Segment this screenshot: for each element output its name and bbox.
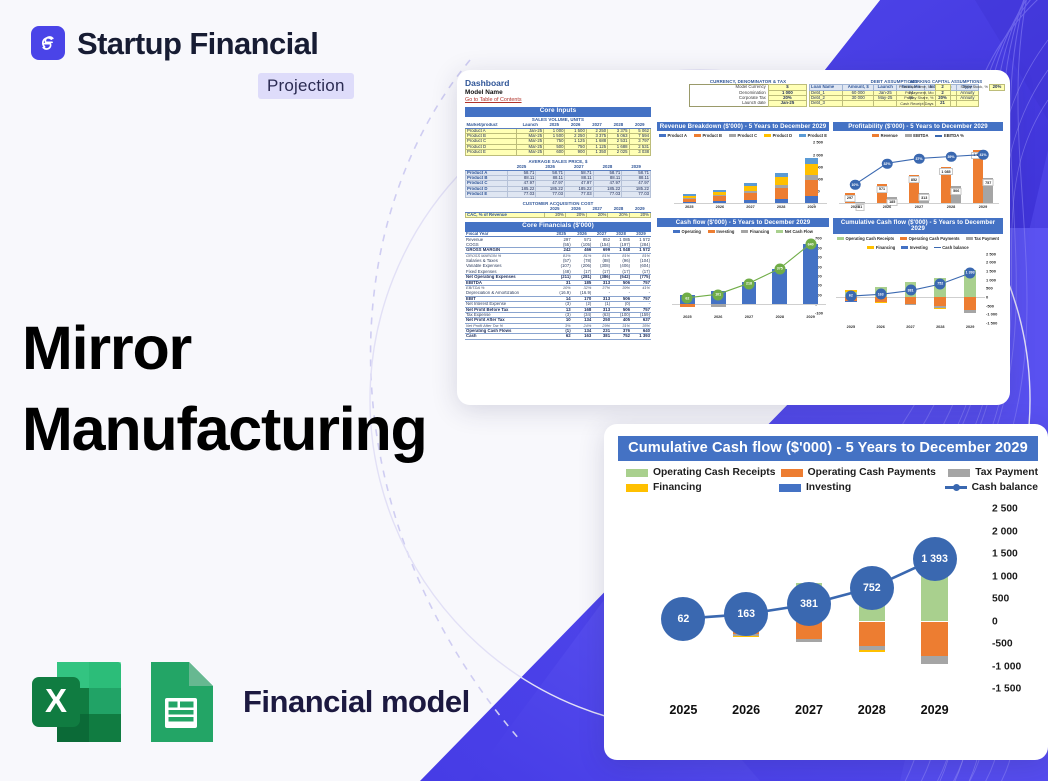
data-point-label: 62 — [845, 290, 856, 301]
table-cell: 1 350 — [586, 150, 607, 155]
legend-line-2: Financing Investing Cash balance — [626, 482, 1038, 493]
cash-flow-plot: 7006005004003002001000-10062101218375640… — [657, 236, 829, 322]
bar-segment — [805, 180, 818, 196]
legend-item: EBITDA — [905, 133, 929, 138]
legend-item-investing: Investing — [779, 482, 945, 493]
legend-swatch-icon — [900, 237, 907, 240]
legend-swatch-icon — [948, 469, 970, 477]
table-cell: Product E — [466, 150, 517, 155]
data-point-label: 32% — [882, 158, 893, 169]
table-cell: 21 — [935, 101, 950, 106]
brand-subtitle: Projection — [258, 73, 354, 99]
table-row: Launch dateJan-25 — [690, 101, 807, 106]
legend-item-cash-balance: Cash balance — [945, 482, 1038, 493]
bar-segment — [744, 183, 757, 186]
legend-item: Product E — [799, 133, 827, 138]
legend-swatch-icon — [966, 237, 973, 240]
format-label: Financial model — [243, 684, 470, 720]
legend-line-marker-icon — [934, 247, 941, 248]
table-cell: Cash Receipt Days — [887, 101, 935, 106]
data-point-label: 41% — [978, 150, 989, 161]
legend-line-marker-icon — [945, 486, 967, 488]
bar-segment — [775, 188, 788, 199]
data-point-label: 752 — [935, 278, 946, 289]
legend-label: Tax Payment — [975, 467, 1038, 478]
legend-label: Cash balance — [972, 482, 1038, 493]
axis-category-label: 2028 — [947, 205, 955, 209]
legend-item: Investing — [708, 229, 734, 234]
table-cell: 900 — [565, 150, 586, 155]
axis-category-label: 2025 — [847, 325, 855, 329]
table-row: Product E77.0377.0377.0377.0377.03 — [466, 192, 651, 197]
format-badges: X Financial model — [30, 660, 470, 744]
legend-item: Operating Cash Payments — [900, 236, 959, 241]
google-sheets-icon — [143, 660, 219, 744]
legend-item: Operating — [673, 229, 701, 234]
revenue-breakdown-chart: Revenue Breakdown ($'000) - 5 Years to D… — [657, 122, 829, 212]
bar-segment — [775, 199, 788, 204]
bar-segment — [744, 186, 757, 191]
table-cell: Product E — [466, 192, 508, 197]
legend-swatch-icon — [799, 134, 806, 137]
svg-text:X: X — [45, 682, 67, 719]
data-point-label: 10% — [850, 180, 861, 191]
bar-segment — [744, 193, 757, 200]
legend-item: Revenue — [872, 133, 898, 138]
cumulative-card-legend: Operating Cash Receipts Operating Cash P… — [618, 467, 1038, 493]
legend-swatch-icon — [673, 230, 680, 233]
data-point-label: 39% — [946, 152, 957, 163]
legend-label: Product E — [808, 133, 827, 138]
axis-category-label: 2028 — [776, 315, 784, 319]
revenue-breakdown-legend: Product AProduct BProduct CProduct DProd… — [657, 133, 829, 138]
bar-segment — [713, 195, 726, 196]
revenue-breakdown-plot: 2 5002 0001 5001 00050002025202620272028… — [657, 140, 829, 212]
table-cell: 77.03 — [536, 192, 565, 197]
page-title: Mirror Manufacturing — [22, 308, 427, 469]
core-inputs-section-bar: Core Inputs — [465, 107, 651, 117]
table-cell: Cash — [465, 334, 551, 339]
brand-name: Startup Financial — [77, 28, 318, 59]
legend-swatch-icon — [781, 469, 803, 477]
axis-category-label: 2025 — [851, 205, 859, 209]
average-price-table: 20252026202720282029Product A58.7158.715… — [465, 165, 651, 198]
bar-segment — [683, 198, 696, 199]
cumulative-cash-flow-card: Cumulative Cash flow ($'000) - 5 Years t… — [604, 424, 1048, 760]
axis-category-label: 2025 — [683, 315, 691, 319]
bar-segment — [683, 199, 696, 202]
axis-category-label: 2028 — [777, 205, 785, 209]
legend-label: Operating — [682, 229, 701, 234]
legend-item: Net Cash Flow — [776, 229, 813, 234]
table-cell — [989, 101, 1004, 106]
legend-label: Operating Cash Receipts — [845, 236, 894, 241]
microsoft-excel-icon: X — [30, 660, 123, 744]
legend-item-operating-cash-receipts: Operating Cash Receipts — [626, 467, 781, 478]
table-cell: 77.03 — [565, 192, 594, 197]
table-cell: 381 — [592, 334, 611, 339]
legend-label: Operating Cash Payments — [808, 467, 936, 478]
table-row: CAC, % of Revenue20%20%20%20%20% — [466, 212, 651, 217]
legend-label: Financing — [653, 482, 702, 493]
axis-category-label: 2025 — [669, 703, 697, 717]
legend-line-marker-icon — [935, 135, 942, 136]
legend-item: Operating Cash Receipts — [837, 236, 894, 241]
axis-category-label: 2029 — [979, 205, 987, 209]
axis-tick-label: 2 000 — [813, 152, 828, 157]
axis-tick-label: 2 500 — [813, 140, 828, 145]
data-point-label: 163 — [875, 289, 886, 300]
data-point-label: 381 — [905, 285, 916, 296]
cumulative-cash-flow-legend-small: Operating Cash ReceiptsOperating Cash Pa… — [833, 236, 1003, 250]
legend-label: Financing — [876, 245, 895, 250]
table-cell: 20% — [608, 212, 629, 217]
legend-label: Investing — [716, 229, 734, 234]
table-cell: Launch date — [690, 101, 769, 106]
legend-swatch-icon — [708, 230, 715, 233]
legend-item: Financing — [741, 229, 769, 234]
cumulative-cash-flow-plot-small: 2 5002 0001 5001 0005000-500-1 000-1 500… — [833, 252, 1003, 332]
currency-assumptions-block: CURRENCY, DENOMINATOR & TAX Model Curren… — [689, 78, 807, 107]
legend-line-1: Operating Cash Receipts Operating Cash P… — [626, 467, 1038, 478]
data-point-label: 62 — [682, 293, 693, 304]
working-capital-block: WORKING CAPITAL ASSUMPTIONS Production t… — [887, 78, 1005, 107]
axis-category-label: 2027 — [746, 205, 754, 209]
legend-label: Net Cash Flow — [785, 229, 813, 234]
legend-label: Product A — [668, 133, 687, 138]
legend-label: EBITDA — [913, 133, 928, 138]
legend-item: Tax Payment — [966, 236, 999, 241]
page-title-line-2: Manufacturing — [22, 389, 427, 470]
revenue-breakdown-title: Revenue Breakdown ($'000) - 5 Years to D… — [657, 122, 829, 131]
legend-swatch-icon — [867, 246, 874, 249]
legend-swatch-icon — [901, 246, 908, 249]
dashboard-left-panel: Dashboard Model Name Go to Table of Cont… — [465, 78, 651, 340]
legend-swatch-icon — [626, 469, 648, 477]
legend-label: Operating Cash Payments — [909, 236, 960, 241]
brand-lockup: Startup Financial — [31, 26, 318, 60]
working-capital-table: Production time, Mo2Safety Stock, %20%Pr… — [887, 84, 1005, 107]
legend-label: Investing — [806, 482, 851, 493]
bar-segment — [744, 200, 757, 203]
core-financials-section-bar: Core Financials ($'000) — [465, 222, 651, 232]
axis-category-label: 2025 — [685, 205, 693, 209]
bar-segment — [713, 201, 726, 203]
axis-category-label: 2027 — [795, 703, 823, 717]
legend-item-tax-payment: Tax Payment — [948, 467, 1038, 478]
cumulative-cash-flow-plot: 2 5002 0001 5001 0005000-500-1 000-1 500… — [618, 503, 1038, 725]
cash-balance-point-label: 752 — [850, 566, 894, 610]
table-cell: Debt_3 — [810, 101, 843, 106]
model-name-label: Model Name — [465, 89, 651, 96]
axis-category-label: 2027 — [906, 325, 914, 329]
axis-category-label: 2026 — [716, 205, 724, 209]
legend-swatch-icon — [776, 230, 783, 233]
poster-canvas: Startup Financial Projection Mirror Manu… — [0, 0, 1048, 781]
axis-category-label: 2029 — [806, 315, 814, 319]
cash-balance-point-label: 62 — [661, 597, 705, 641]
profitability-legend: RevenueEBITDAEBITDA % — [833, 133, 1003, 138]
legend-item: Financing — [867, 245, 895, 250]
legend-item: EBITDA % — [935, 133, 963, 138]
table-row: Cash Receipt Days21 — [887, 101, 1005, 106]
axis-category-label: 2029 — [921, 703, 949, 717]
legend-label: Product D — [773, 133, 793, 138]
legend-item-financing: Financing — [626, 482, 779, 493]
bar-segment — [775, 185, 788, 188]
data-point-label: 101 — [713, 289, 724, 300]
table-cell: 163 — [572, 334, 593, 339]
cash-flow-legend: OperatingInvestingFinancingNet Cash Flow — [657, 229, 829, 234]
legend-swatch-icon — [837, 237, 844, 240]
legend-item: Product B — [694, 133, 722, 138]
data-point-label: 37% — [914, 154, 925, 165]
legend-item: Product D — [764, 133, 792, 138]
cash-flow-title: Cash flow ($'000) - 5 Years to December … — [657, 218, 829, 227]
bar-segment — [683, 202, 696, 203]
hero-column: Startup Financial Projection Mirror Manu… — [0, 0, 470, 781]
bar-segment — [713, 192, 726, 195]
currency-table: Model Currency$Denomination1 000Corporat… — [689, 84, 807, 107]
legend-swatch-icon — [659, 134, 666, 137]
table-cell: 600 — [544, 150, 565, 155]
table-cell: 77.03 — [507, 192, 536, 197]
data-point-label: 375 — [774, 263, 785, 274]
legend-label: Product C — [738, 133, 758, 138]
cash-flow-chart: Cash flow ($'000) - 5 Years to December … — [657, 218, 829, 322]
data-point-label: 218 — [744, 278, 755, 289]
legend-item: Product A — [659, 133, 687, 138]
legend-swatch-icon — [872, 134, 879, 137]
profitability-plot: 297315711858523131 0855061 57275710%32%3… — [833, 140, 1003, 212]
cash-balance-point-label: 1 393 — [913, 537, 957, 581]
cumulative-card-title: Cumulative Cash flow ($'000) - 5 Years t… — [618, 436, 1038, 461]
table-cell: 77.03 — [593, 192, 622, 197]
axis-category-label: 2026 — [732, 703, 760, 717]
bar-segment — [775, 173, 788, 177]
data-point-label: 1 393 — [965, 267, 976, 278]
legend-swatch-icon — [905, 134, 912, 137]
legend-label: Financing — [750, 229, 769, 234]
bar-segment — [683, 194, 696, 195]
table-cell: 62 — [551, 334, 572, 339]
profitability-title: Profitability ($'000) - 5 Years to Decem… — [833, 122, 1003, 131]
series-line — [833, 140, 1003, 212]
table-row: Product EMar-256009001 3502 0253 038 — [466, 150, 651, 155]
cac-table: 20252026202720282029CAC, % of Revenue20%… — [465, 207, 651, 218]
sales-volume-table: Market/productLaunch20252026202720282029… — [465, 123, 651, 156]
legend-swatch-icon — [729, 134, 736, 137]
bar-segment — [713, 196, 726, 201]
bar-segment — [805, 175, 818, 179]
axis-zero-line — [674, 203, 827, 204]
cumulative-cash-flow-title-small: Cumulative Cash flow ($'000) - 5 Years t… — [833, 218, 1003, 234]
table-cell: 2 025 — [608, 150, 629, 155]
axis-category-label: 2027 — [915, 205, 923, 209]
axis-category-label: 2028 — [858, 703, 886, 717]
bar-segment — [775, 177, 788, 185]
series-line — [657, 236, 829, 322]
table-row: Cash621633817521 393 — [465, 334, 651, 339]
axis-category-label: 2029 — [966, 325, 974, 329]
profitability-chart: Profitability ($'000) - 5 Years to Decem… — [833, 122, 1003, 212]
legend-swatch-icon — [741, 230, 748, 233]
bar-segment — [805, 196, 818, 203]
axis-category-label: 2026 — [883, 205, 891, 209]
legend-label: Investing — [910, 245, 928, 250]
axis-category-label: 2028 — [936, 325, 944, 329]
legend-swatch-icon — [694, 134, 701, 137]
table-cell: 77.03 — [622, 192, 651, 197]
bar-segment — [683, 196, 696, 198]
data-point-label: 640 — [805, 239, 816, 250]
table-cell — [950, 101, 989, 106]
table-cell: Mar-25 — [517, 150, 544, 155]
legend-swatch-icon — [764, 134, 771, 137]
table-cell: 3 038 — [629, 150, 650, 155]
table-of-contents-link[interactable]: Go to Table of Contents — [465, 97, 651, 103]
axis-category-label: 2027 — [745, 315, 753, 319]
cash-balance-point-label: 163 — [724, 592, 768, 636]
table-header-row: Market/productLaunch20252026202720282029 — [466, 123, 651, 128]
table-cell: CAC, % of Revenue — [466, 212, 545, 217]
legend-label: EBITDA % — [944, 133, 964, 138]
bar-segment — [744, 191, 757, 193]
legend-label: Revenue — [881, 133, 898, 138]
series-line — [833, 252, 1003, 332]
page-title-line-1: Mirror — [22, 308, 427, 389]
dashboard-screenshot-card: Dashboard Model Name Go to Table of Cont… — [457, 70, 1010, 405]
swirl-e-logo-icon — [31, 26, 65, 60]
table-cell: 20% — [565, 212, 586, 217]
table-cell: 1 393 — [631, 334, 651, 339]
legend-item: Cash balance — [934, 245, 969, 250]
bar-segment — [713, 190, 726, 192]
legend-label: Cash balance — [942, 245, 968, 250]
dashboard-title: Dashboard — [465, 78, 651, 88]
table-cell: 20% — [587, 212, 608, 217]
table-cell: Jan-25 — [768, 101, 806, 106]
table-cell: 20% — [544, 212, 565, 217]
legend-swatch-icon — [626, 484, 648, 492]
table-cell: 752 — [611, 334, 631, 339]
table-cell — [843, 101, 874, 106]
legend-label: Tax Payment — [974, 236, 999, 241]
bar-segment — [805, 164, 818, 175]
legend-item-operating-cash-payments: Operating Cash Payments — [781, 467, 949, 478]
core-financials-table: Fiscal Year20252026202720282029Revenue29… — [465, 232, 651, 340]
legend-item: Investing — [901, 245, 927, 250]
legend-item: Product C — [729, 133, 757, 138]
table-cell: 20% — [629, 212, 650, 217]
legend-swatch-icon — [779, 484, 801, 492]
legend-label: Product B — [702, 133, 722, 138]
cumulative-cash-flow-chart-small: Cumulative Cash flow ($'000) - 5 Years t… — [833, 218, 1003, 332]
axis-category-label: 2026 — [876, 325, 884, 329]
axis-category-label: 2026 — [714, 315, 722, 319]
bar-segment — [805, 158, 818, 164]
cash-balance-point-label: 381 — [787, 582, 831, 626]
axis-category-label: 2029 — [807, 205, 815, 209]
legend-label: Operating Cash Receipts — [653, 467, 775, 478]
